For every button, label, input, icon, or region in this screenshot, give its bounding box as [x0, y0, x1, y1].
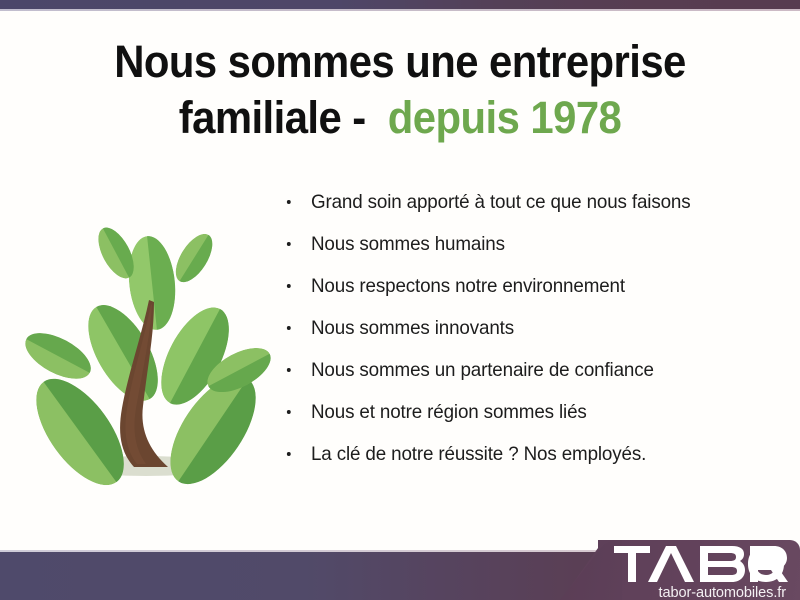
list-item-label: Grand soin apporté à tout ce que nous fa…: [311, 191, 691, 213]
bullet-dot-icon: [287, 368, 291, 372]
logo-url-text: tabor-automobiles.fr: [559, 585, 786, 600]
slide-canvas: Nous sommes une entreprise familiale - d…: [0, 0, 800, 600]
list-item-label: Nous sommes innovants: [311, 317, 514, 339]
list-item: Nous respectons notre environnement: [283, 274, 766, 299]
leaf-top-right: [168, 228, 221, 289]
bullet-dot-icon: [287, 200, 291, 204]
headline-line-2-plain: familiale -: [179, 92, 366, 143]
list-item: La clé de notre réussite ? Nos employés.: [283, 442, 766, 467]
list-item-label: Nous sommes humains: [311, 233, 505, 255]
bullet-dot-icon: [287, 452, 291, 456]
list-item: Nous et notre région sommes liés: [283, 400, 766, 425]
list-item-label: La clé de notre réussite ? Nos employés.: [311, 443, 646, 465]
list-item-label: Nous sommes un partenaire de confiance: [311, 359, 654, 381]
headline-line-2-accent: depuis 1978: [388, 92, 621, 143]
list-item-label: Nous respectons notre environnement: [311, 275, 625, 297]
list-item: Nous sommes humains: [283, 232, 766, 257]
top-accent-bar: [0, 0, 800, 9]
list-item-label: Nous et notre région sommes liés: [311, 401, 587, 423]
page-title: Nous sommes une entreprise familiale - d…: [0, 34, 800, 146]
list-item: Nous sommes un partenaire de confiance: [283, 358, 766, 383]
bullet-dot-icon: [287, 242, 291, 246]
list-item: Grand soin apporté à tout ce que nous fa…: [283, 190, 766, 215]
headline-line-1: Nous sommes une entreprise: [28, 34, 772, 90]
tabor-wordmark-icon: [614, 546, 790, 582]
brand-logo-plate[interactable]: tabor-automobiles.fr: [552, 508, 800, 600]
values-bullet-list: Grand soin apporté à tout ce que nous fa…: [283, 190, 783, 467]
bullet-dot-icon: [287, 326, 291, 330]
headline-line-2: familiale - depuis 1978: [28, 90, 772, 146]
bullet-dot-icon: [287, 284, 291, 288]
tree-illustration: [18, 178, 276, 490]
leaf-far-left: [18, 322, 99, 389]
bullet-dot-icon: [287, 410, 291, 414]
top-accent-hairline: [0, 9, 800, 11]
list-item: Nous sommes innovants: [283, 316, 766, 341]
